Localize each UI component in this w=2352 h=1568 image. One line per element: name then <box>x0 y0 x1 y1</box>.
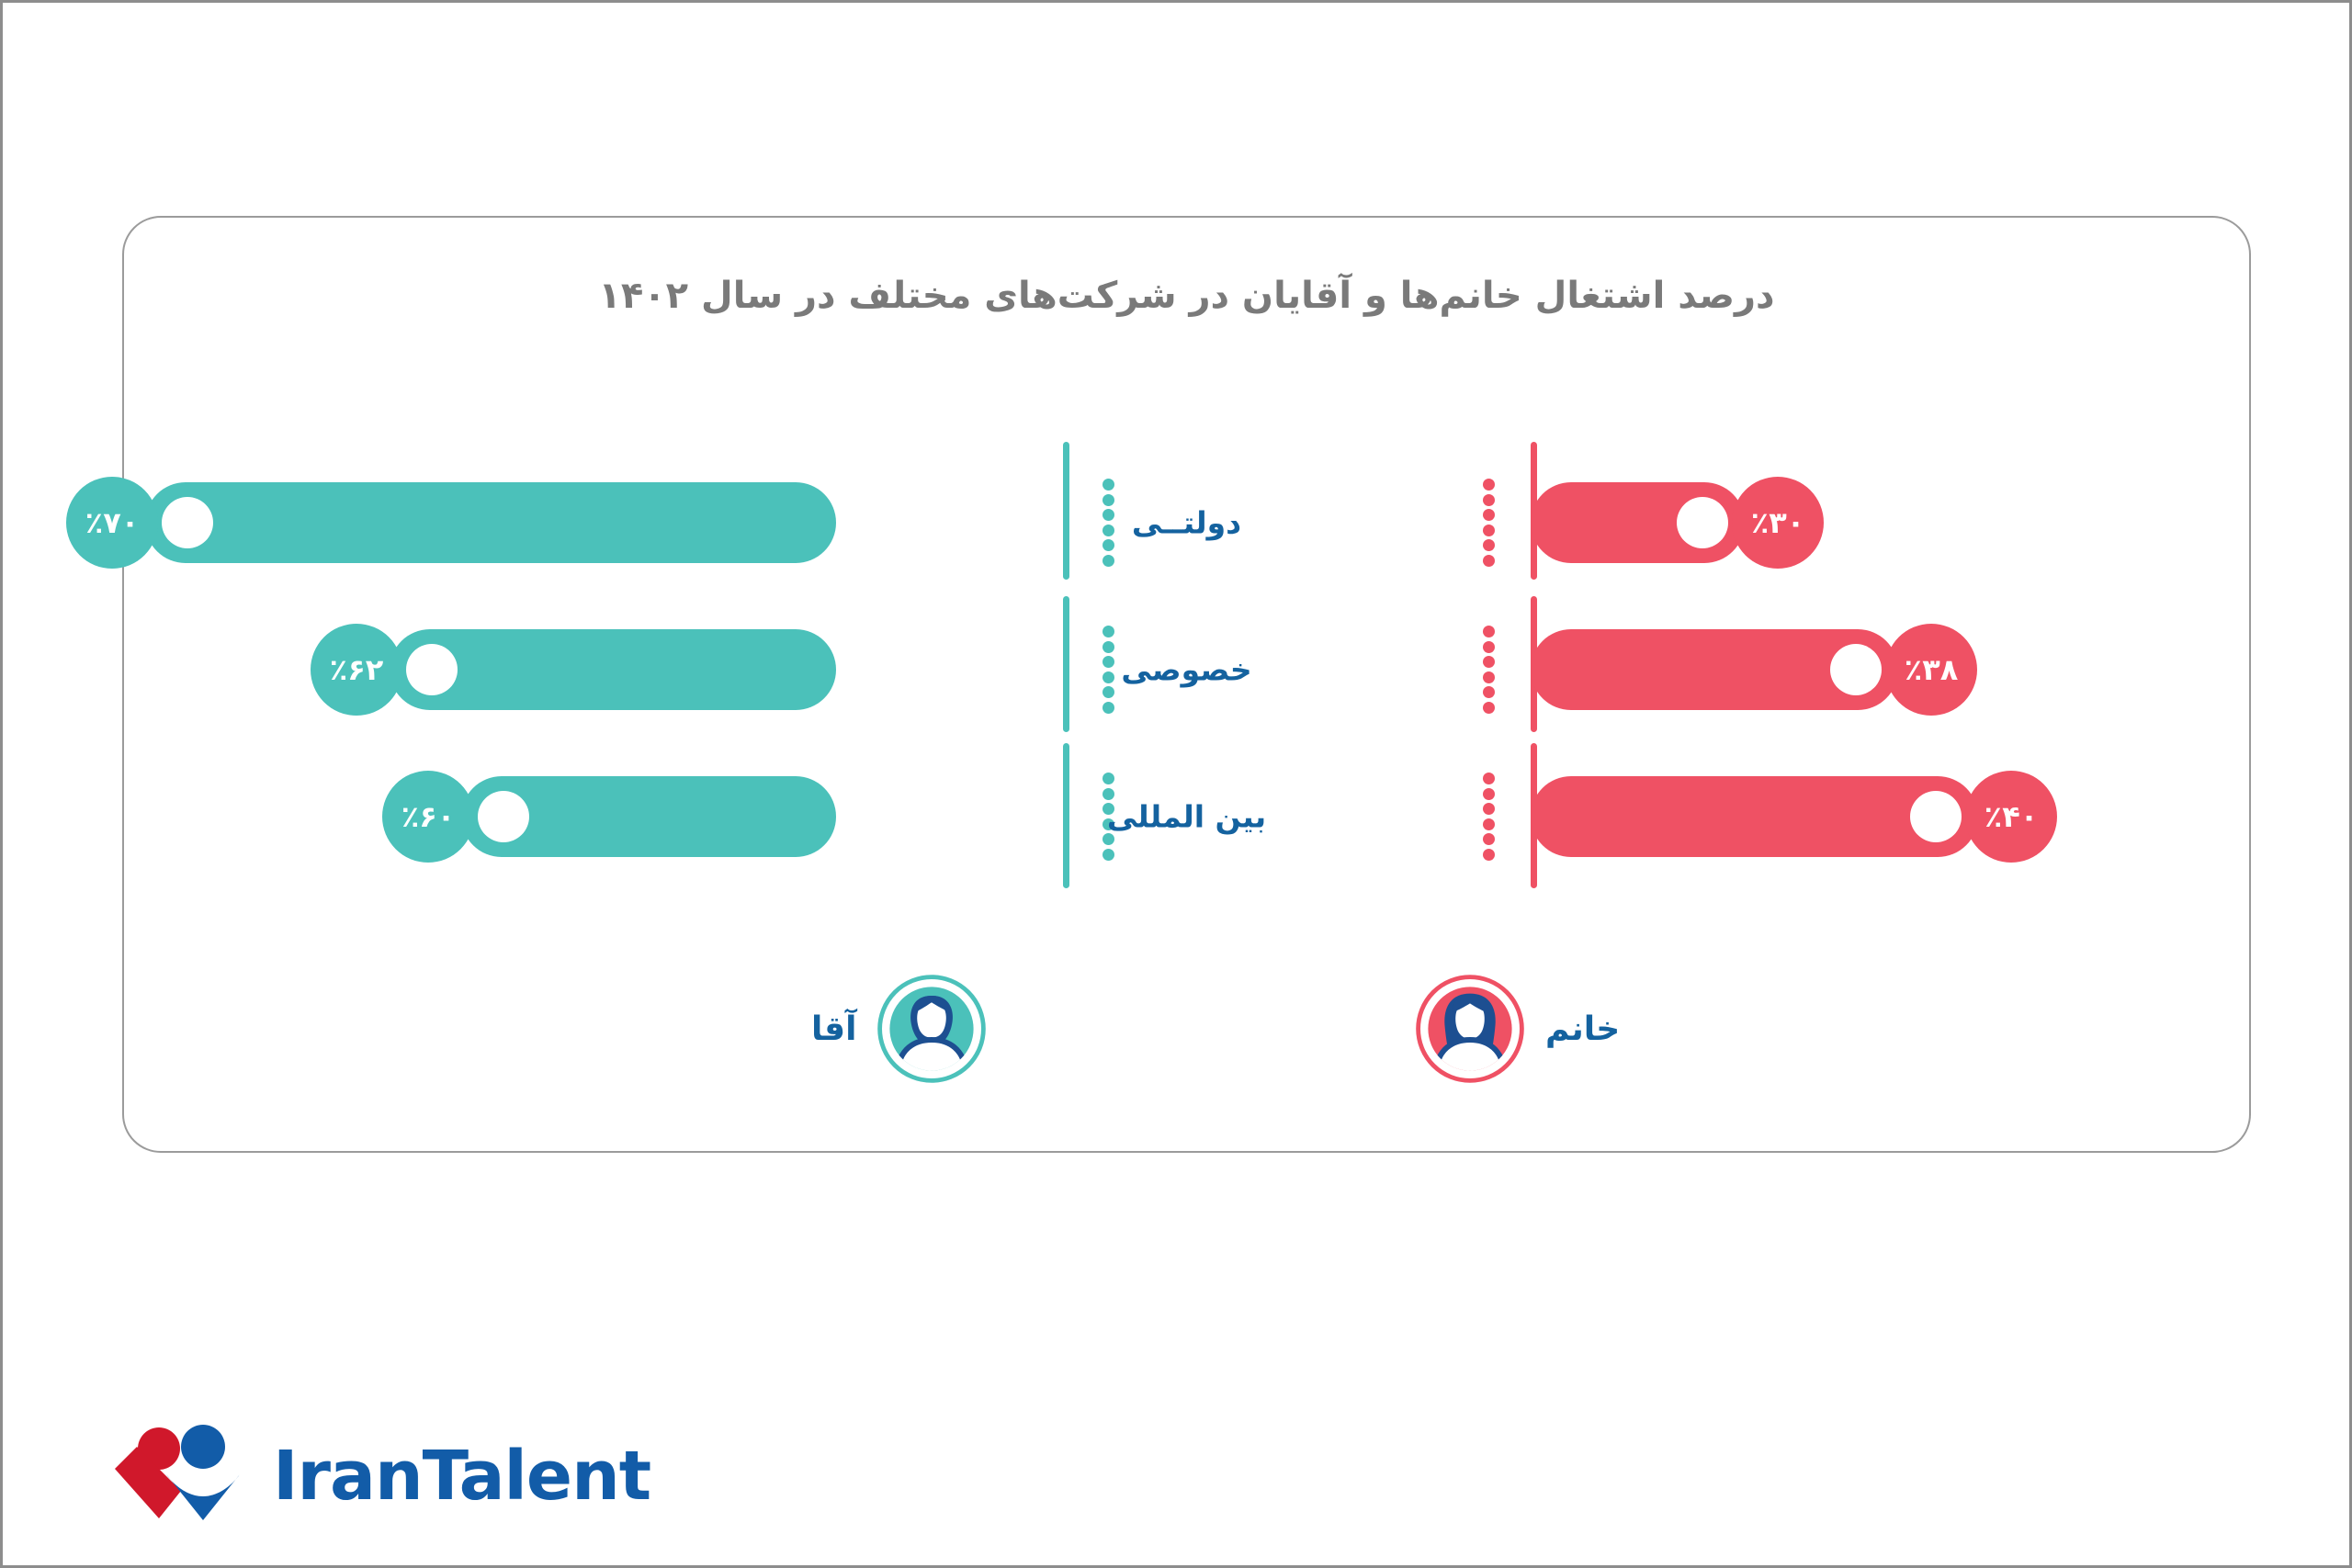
diverging-bar-chart: ٪۷۰ ٪۳۰ دولتــی <box>124 218 2249 1151</box>
axis-dot <box>1483 686 1495 698</box>
axis-dot <box>1483 555 1495 567</box>
chart-card: درصد اشتغال خانم‌ها و آقایان در شرکت‌های… <box>122 216 2251 1153</box>
axis-dot <box>1483 671 1495 683</box>
bar-female[interactable]: ٪۳۸ <box>1531 629 1898 710</box>
axis-dot <box>1102 849 1114 861</box>
axis-dot <box>1483 702 1495 714</box>
value-bubble-female: ٪۳۰ <box>1732 477 1824 569</box>
bar-female[interactable]: ٪۴۰ <box>1531 776 1978 857</box>
chart-row: ٪۷۰ ٪۳۰ دولتــی <box>124 468 2249 578</box>
category-label: دولتــی <box>976 505 1398 541</box>
axis-dot <box>1483 626 1495 637</box>
value-bubble-female: ٪۳۸ <box>1885 624 1977 716</box>
category-label: خصوصی <box>976 652 1398 688</box>
infographic-page: درصد اشتغال خانم‌ها و آقایان در شرکت‌های… <box>0 0 2352 1568</box>
bar-male[interactable]: ٪۷۰ <box>145 482 836 563</box>
bar-knob-icon <box>1910 791 1962 842</box>
legend-label-female: خانم <box>1545 1010 1620 1048</box>
bar-female[interactable]: ٪۳۰ <box>1531 482 1745 563</box>
axis-dot <box>1483 833 1495 845</box>
bar-knob-icon <box>478 791 529 842</box>
axis-dot <box>1102 626 1114 637</box>
axis-dot <box>1102 479 1114 491</box>
axis-dot <box>1483 656 1495 668</box>
bar-male[interactable]: ٪۶۰ <box>461 776 836 857</box>
axis-dot <box>1483 641 1495 653</box>
female-avatar-icon <box>1415 974 1525 1084</box>
axis-dot <box>1102 686 1114 698</box>
axis-dot <box>1483 803 1495 815</box>
legend-item-female[interactable]: خانم <box>1415 960 1620 1098</box>
value-bubble-male: ٪۶۰ <box>382 771 474 863</box>
axis-dot <box>1483 849 1495 861</box>
value-bubble-male: ٪۶۲ <box>311 624 402 716</box>
bar-knob-icon <box>406 644 458 695</box>
axis-dot <box>1483 494 1495 506</box>
bar-knob-icon <box>1677 497 1728 548</box>
chart-row: ٪۶۰ ٪۴۰ بین المللی <box>124 761 2249 872</box>
legend-item-male[interactable]: آقا <box>811 960 987 1098</box>
dot-column-right <box>1481 626 1496 714</box>
irantalent-logo[interactable]: IranTalent <box>111 1425 650 1528</box>
axis-dot <box>1102 555 1114 567</box>
chart-row: ٪۶۲ ٪۳۸ خصوصی <box>124 615 2249 725</box>
value-bubble-female: ٪۴۰ <box>1965 771 2057 863</box>
axis-dot <box>1102 833 1114 845</box>
bar-knob-icon <box>162 497 213 548</box>
axis-dot <box>1483 479 1495 491</box>
legend-label-male: آقا <box>811 1010 856 1048</box>
dot-column-right <box>1481 773 1496 861</box>
value-bubble-male: ٪۷۰ <box>66 477 158 569</box>
axis-dot <box>1483 788 1495 800</box>
chart-legend: آقا خانم <box>124 960 2249 1116</box>
axis-dot <box>1483 818 1495 830</box>
irantalent-wordmark: IranTalent <box>273 1442 650 1510</box>
bar-male[interactable]: ٪۶۲ <box>390 629 836 710</box>
axis-dot <box>1102 773 1114 784</box>
dot-column-right <box>1481 479 1496 567</box>
axis-dot <box>1102 539 1114 551</box>
category-label: بین المللی <box>976 799 1398 835</box>
axis-dot <box>1102 702 1114 714</box>
irantalent-logo-mark-icon <box>111 1425 249 1528</box>
axis-dot <box>1483 509 1495 521</box>
bar-knob-icon <box>1830 644 1882 695</box>
axis-dot <box>1483 525 1495 536</box>
axis-dot <box>1483 773 1495 784</box>
axis-dot <box>1483 539 1495 551</box>
male-avatar-icon <box>876 974 987 1084</box>
